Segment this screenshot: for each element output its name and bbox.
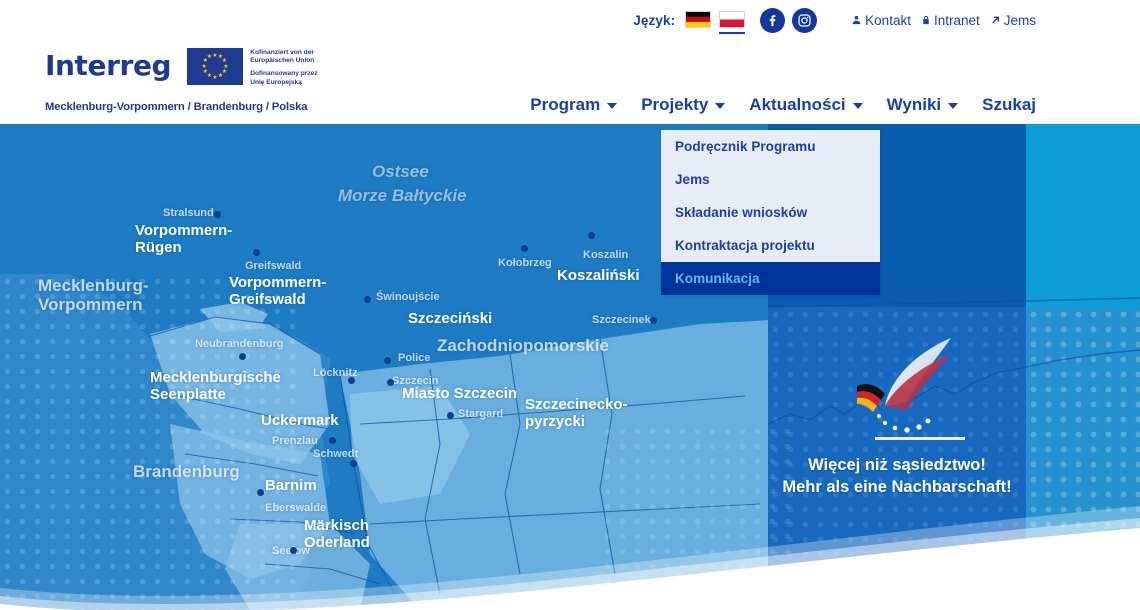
- eu-funding-text-pl: Dofinansowany przez Unię Europejską: [250, 70, 317, 86]
- nav-item-label: Szukaj: [982, 96, 1036, 113]
- dropdown-item-skadaniewnioskw[interactable]: Składanie wniosków: [661, 196, 880, 229]
- map-label-region: Mecklenburgische Seenplatte: [150, 370, 281, 404]
- eu-star-icon: ★: [218, 73, 223, 79]
- map-label-sea: Ostsee: [372, 162, 429, 181]
- jems-link[interactable]: Jems: [990, 13, 1036, 28]
- map-label-city: Świnoujście: [376, 291, 440, 303]
- contact-link-label: Kontakt: [865, 13, 911, 28]
- active-language-indicator: [719, 32, 745, 34]
- map-label-region: Koszaliński: [557, 268, 640, 285]
- language-switch-pl[interactable]: [719, 11, 753, 29]
- eu-flag-icon: ★★★★★★★★★★★★: [187, 48, 243, 85]
- top-utility-bar: Język: Kontakt Intranet: [0, 0, 1140, 40]
- map-label-city: Schwedt: [313, 448, 358, 460]
- map-city-dot: [588, 232, 595, 239]
- map-label-state: Mecklenburg- Vorpommern: [38, 276, 149, 314]
- dropdown-item-kontraktacjaprojektu[interactable]: Kontraktacja projektu: [661, 229, 880, 262]
- map-label-city: Neubrandenburg: [195, 338, 284, 350]
- dropdown-item-jems[interactable]: Jems: [661, 163, 880, 196]
- flag-ribbon-emblem: [855, 324, 985, 454]
- main-navigation: ProgramProjektyAktualnościWynikiSzukaj: [530, 96, 1036, 113]
- eu-star-icon: ★: [201, 64, 206, 70]
- map-label-city: Koszalin: [583, 249, 628, 261]
- person-icon: [851, 14, 862, 26]
- dropdown-item-label: Jems: [675, 172, 710, 187]
- nav-item-label: Program: [530, 96, 600, 113]
- eu-funding-text: Kofinanziert von der Europäischen Union …: [250, 48, 317, 92]
- facebook-icon[interactable]: [760, 8, 785, 33]
- eu-star-icon: ★: [207, 54, 212, 60]
- nav-item-label: Projekty: [641, 96, 708, 113]
- hero-bottom-wave: [0, 470, 1140, 610]
- lock-icon: [921, 14, 931, 26]
- eu-star-icon: ★: [203, 69, 208, 75]
- dropdown-item-label: Kontraktacja projektu: [675, 238, 815, 253]
- hero-banner: OstseeMorze BałtyckieMecklenburg- Vorpom…: [0, 124, 1140, 610]
- map-city-dot: [364, 296, 371, 303]
- map-label-city: Szczecinek: [592, 314, 651, 326]
- projekty-dropdown-menu[interactable]: Podręcznik ProgramuJemsSkładanie wnioskó…: [661, 130, 880, 295]
- logo-subtitle: Mecklenburg-Vorpommern / Brandenburg / P…: [45, 101, 318, 113]
- map-label-sea: Morze Bałtyckie: [338, 186, 467, 205]
- eu-funding-text-de: Kofinanziert von der Europäischen Union: [250, 49, 317, 65]
- external-link-icon: [990, 14, 1001, 26]
- map-city-dot: [214, 211, 221, 218]
- map-label-city: Stargard: [458, 408, 503, 420]
- polish-flag-icon[interactable]: [719, 11, 745, 28]
- chevron-down-icon: [853, 103, 863, 109]
- intranet-link-label: Intranet: [934, 13, 980, 28]
- map-label-region: Szczecinecko- pyrzycki: [525, 397, 628, 431]
- nav-item-label: Aktualności: [749, 96, 845, 113]
- map-city-dot: [387, 379, 394, 386]
- map-city-dot: [650, 317, 657, 324]
- map-city-dot: [329, 437, 336, 444]
- nav-item-aktualnoci[interactable]: Aktualności: [749, 96, 862, 113]
- map-city-dot: [521, 245, 528, 252]
- nav-item-projekty[interactable]: Projekty: [641, 96, 725, 113]
- map-label-city: Kołobrzeg: [498, 257, 552, 269]
- eu-star-icon: ★: [212, 75, 217, 81]
- map-city-dot: [239, 353, 246, 360]
- map-label-city: Stralsund: [163, 207, 214, 219]
- jems-link-label: Jems: [1004, 13, 1036, 28]
- map-label-region: Vorpommern- Greifswald: [229, 275, 326, 309]
- map-label-city: Greifswald: [245, 260, 301, 272]
- eu-funding-emblem: ★★★★★★★★★★★★ Kofinanziert von der Europä…: [187, 48, 317, 92]
- nav-item-program[interactable]: Program: [530, 96, 617, 113]
- interreg-wordmark: Interreg: [45, 52, 171, 80]
- map-label-region: Vorpommern- Rügen: [135, 223, 232, 257]
- german-flag-icon[interactable]: [685, 11, 711, 28]
- map-city-dot: [447, 412, 454, 419]
- chevron-down-icon: [715, 103, 725, 109]
- instagram-icon[interactable]: [792, 8, 817, 33]
- map-label-region: Szczeciński: [408, 311, 492, 328]
- utility-links: Kontakt Intranet Jems: [851, 13, 1036, 28]
- dropdown-item-label: Komunikacja: [675, 271, 760, 286]
- map-label-region: Miasto Szczecin: [402, 386, 517, 403]
- dropdown-item-podrcznikprogramu[interactable]: Podręcznik Programu: [661, 130, 880, 163]
- language-switch-de[interactable]: [685, 11, 719, 29]
- map-label-region: Uckermark: [261, 413, 339, 430]
- dropdown-item-label: Składanie wniosków: [675, 205, 807, 220]
- intranet-link[interactable]: Intranet: [921, 13, 980, 28]
- site-logo[interactable]: Interreg ★★★★★★★★★★★★ Kofinanziert von d…: [45, 48, 318, 113]
- map-city-dot: [348, 377, 355, 384]
- contact-link[interactable]: Kontakt: [851, 13, 911, 28]
- map-city-dot: [350, 460, 357, 467]
- chevron-down-icon: [607, 103, 617, 109]
- map-label-city: Prenzlau: [272, 435, 318, 447]
- language-label: Język:: [633, 13, 675, 28]
- nav-item-szukaj[interactable]: Szukaj: [982, 96, 1036, 113]
- map-label-city: Police: [398, 352, 430, 364]
- map-city-dot: [384, 357, 391, 364]
- emblem-underline: [875, 437, 965, 440]
- map-city-dot: [253, 249, 260, 256]
- logo-row: Interreg ★★★★★★★★★★★★ Kofinanziert von d…: [45, 48, 318, 92]
- chevron-down-icon: [948, 103, 958, 109]
- nav-item-label: Wyniki: [887, 96, 941, 113]
- nav-item-wyniki[interactable]: Wyniki: [887, 96, 958, 113]
- dropdown-item-komunikacja[interactable]: Komunikacja: [661, 262, 880, 295]
- map-label-city: Szczecin: [392, 375, 438, 387]
- dropdown-item-label: Podręcznik Programu: [675, 139, 816, 154]
- map-label-state: Zachodniopomorskie: [437, 336, 609, 355]
